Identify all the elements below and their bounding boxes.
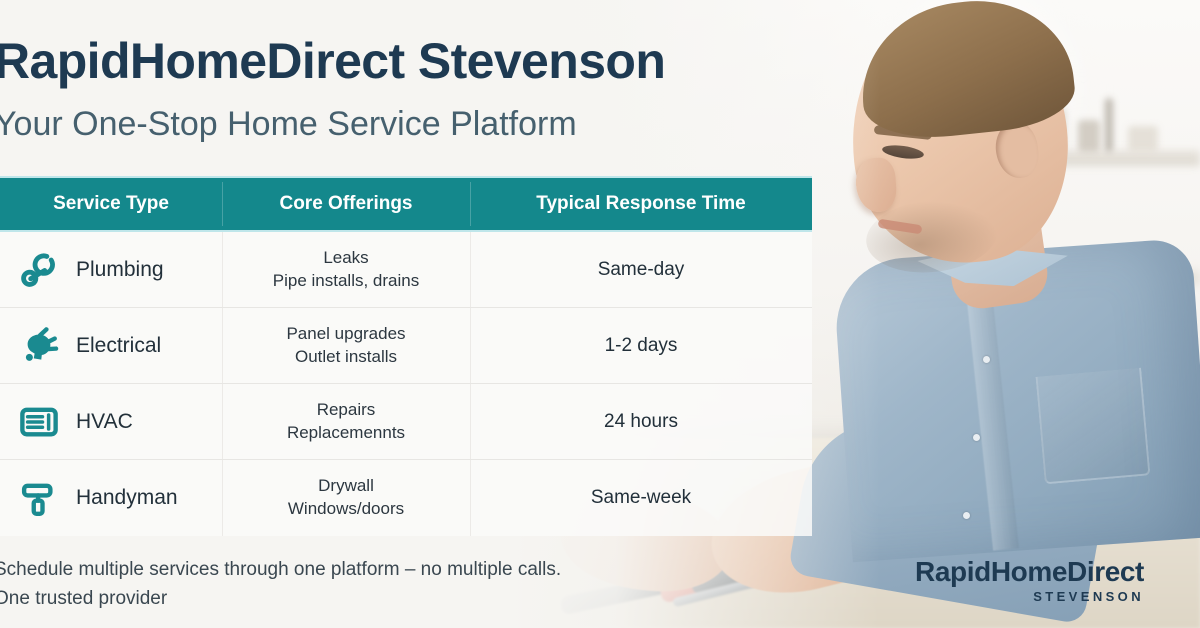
cell-service-type: HVAC	[0, 384, 222, 459]
cell-response-time: Same-week	[470, 460, 812, 536]
cell-core-offerings: Repairs Replacemennts	[222, 384, 470, 459]
shirt-button	[983, 356, 990, 363]
footer-line-2: One trusted provider	[0, 585, 754, 614]
page-subtitle: Your One-Stop Home Service Platform	[0, 105, 874, 144]
cell-response-time: Same-day	[470, 232, 812, 307]
paint-roller-icon	[18, 477, 60, 519]
cell-response-time: 1-2 days	[470, 308, 812, 383]
response-time-text: Same-day	[598, 259, 685, 281]
cell-service-type: Electrical	[0, 308, 222, 383]
table-header-row: Service Type Core Offerings Typical Resp…	[0, 176, 812, 232]
shirt-button	[973, 434, 980, 441]
shirt-button	[963, 512, 970, 519]
cell-core-offerings: Drywall Windows/doors	[222, 460, 470, 536]
service-name: Plumbing	[76, 258, 164, 282]
brand-logo: RapidHomeDirect STEVENSON	[915, 556, 1144, 604]
cell-core-offerings: Leaks Pipe installs, drains	[222, 232, 470, 307]
cell-service-type: Plumbing	[0, 232, 222, 307]
footer-line-1: Schedule multiple services through one p…	[0, 556, 754, 585]
offerings-text: Leaks Pipe installs, drains	[273, 247, 419, 293]
response-time-text: 24 hours	[604, 411, 678, 433]
column-header-response-time: Typical Response Time	[470, 178, 812, 230]
table-row: Handyman Drywall Windows/doors Same-week	[0, 460, 812, 536]
response-time-text: Same-week	[591, 487, 691, 509]
offerings-text: Repairs Replacemennts	[287, 399, 405, 445]
page-title: RapidHomeDirect Stevenson	[0, 32, 874, 90]
offerings-text: Panel upgrades Outlet installs	[286, 323, 405, 369]
shirt-pocket	[1035, 368, 1150, 485]
service-name: Handyman	[76, 486, 178, 510]
services-table: Service Type Core Offerings Typical Resp…	[0, 176, 812, 536]
footer-note: Schedule multiple services through one p…	[0, 556, 754, 613]
wrench-icon	[18, 249, 60, 291]
service-name: HVAC	[76, 410, 133, 434]
table-row: Electrical Panel upgrades Outlet install…	[0, 308, 812, 384]
brand-location: STEVENSON	[915, 589, 1144, 604]
table-row: Plumbing Leaks Pipe installs, drains Sam…	[0, 232, 812, 308]
infographic-banner: RapidHomeDirect Stevenson Your One-Stop …	[0, 0, 1200, 628]
technician-person	[830, 0, 1200, 628]
service-name: Electrical	[76, 334, 161, 358]
offerings-text: Drywall Windows/doors	[288, 475, 404, 521]
table-row: HVAC Repairs Replacemennts 24 hours	[0, 384, 812, 460]
plug-icon	[18, 325, 60, 367]
hvac-vent-icon	[18, 401, 60, 443]
response-time-text: 1-2 days	[605, 335, 678, 357]
cell-service-type: Handyman	[0, 460, 222, 536]
brand-name: RapidHomeDirect	[915, 556, 1144, 588]
column-header-core-offerings: Core Offerings	[222, 178, 470, 230]
cell-response-time: 24 hours	[470, 384, 812, 459]
table-body: Plumbing Leaks Pipe installs, drains Sam…	[0, 232, 812, 536]
column-header-service-type: Service Type	[0, 178, 222, 230]
cell-core-offerings: Panel upgrades Outlet installs	[222, 308, 470, 383]
